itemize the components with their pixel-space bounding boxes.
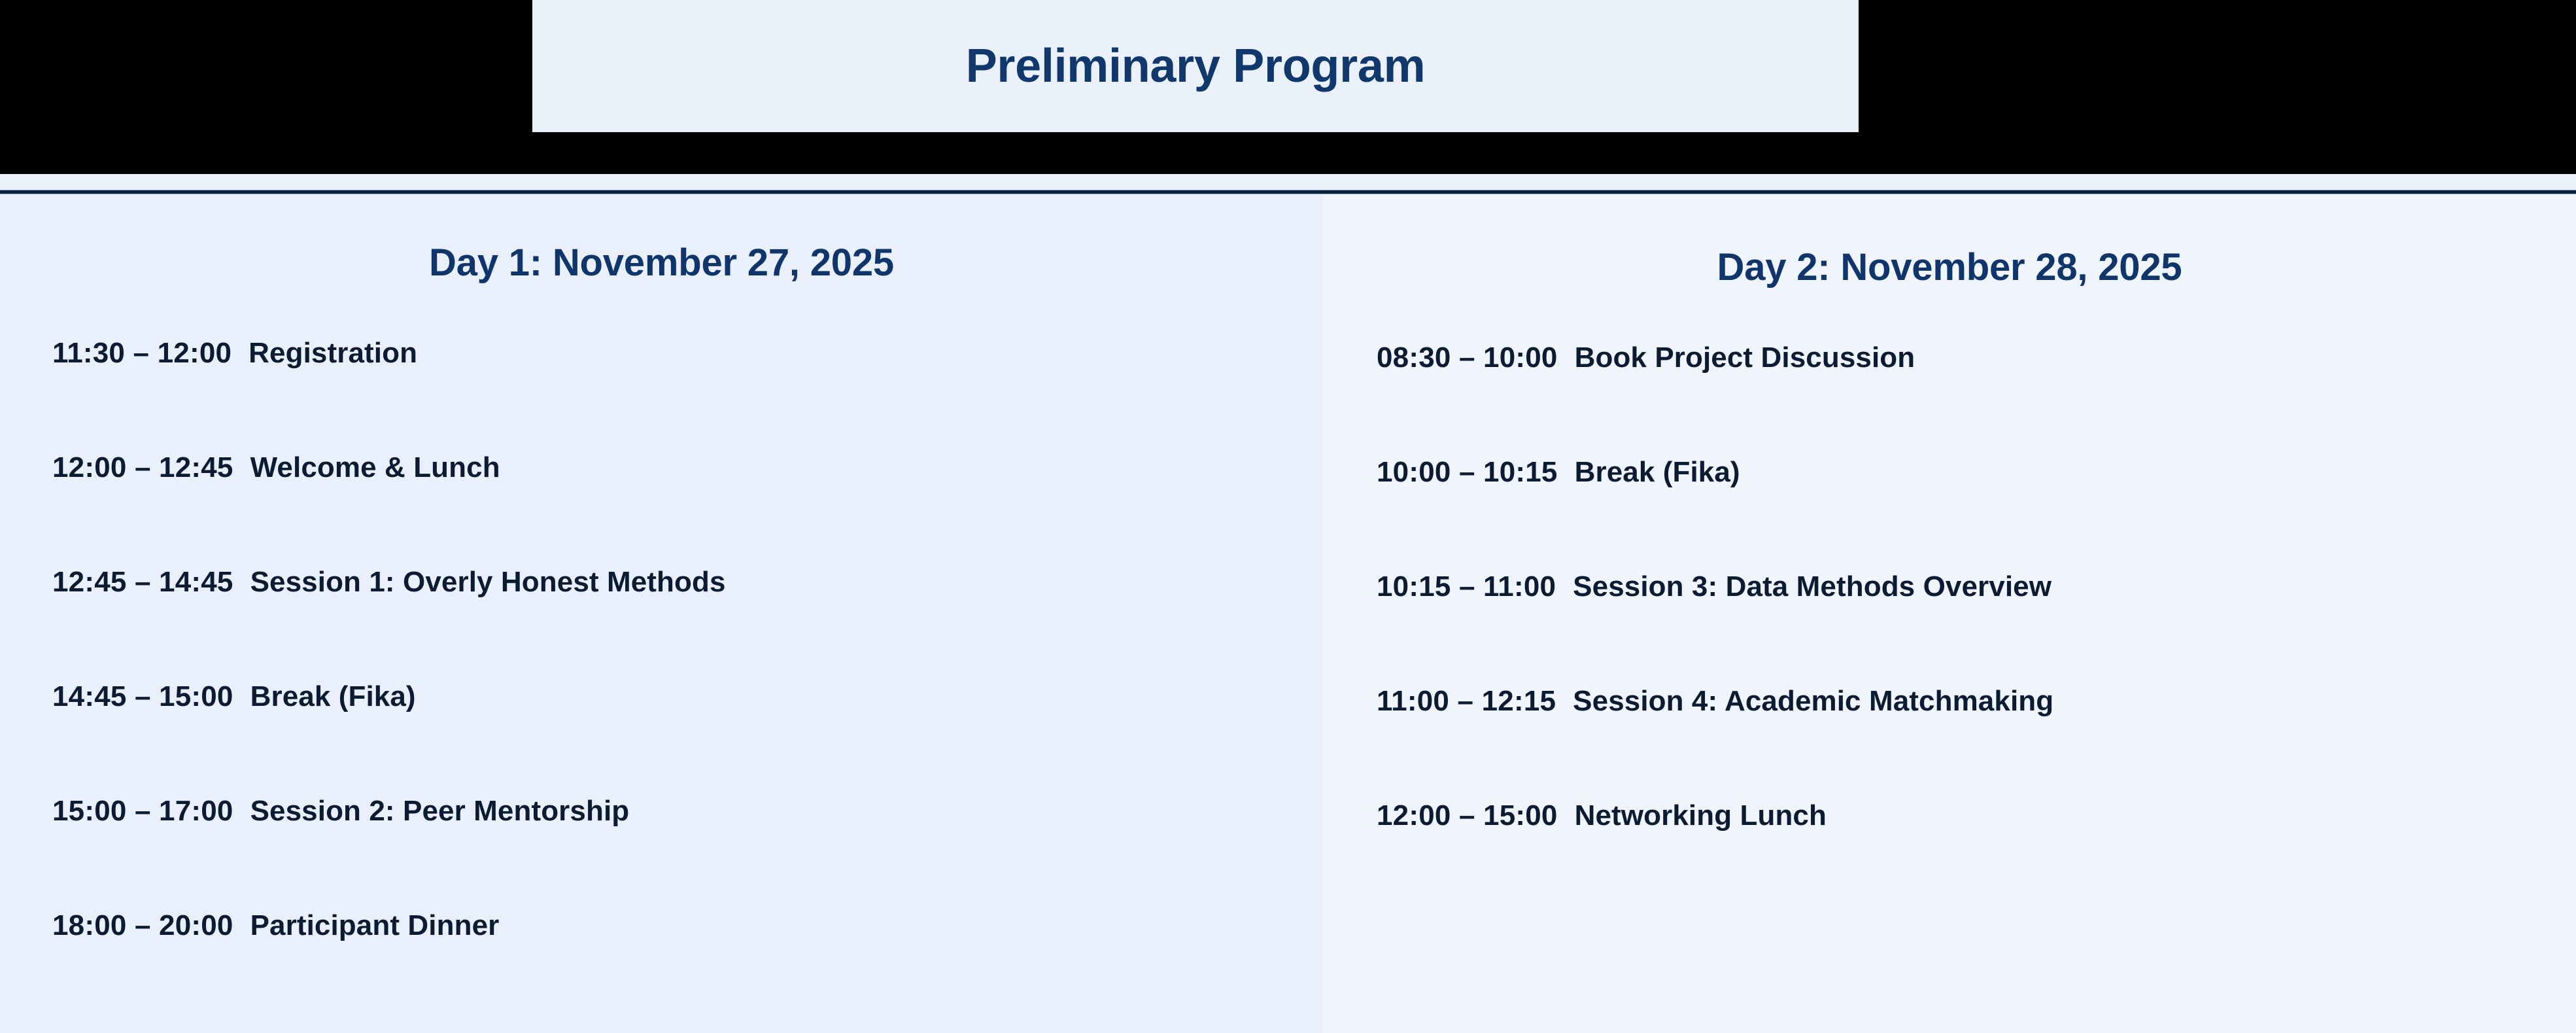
schedule-row: 11:00 – 12:15 Session 4: Academic Matchm…: [1377, 685, 2576, 799]
program-title-card: Preliminary Program: [532, 0, 1859, 132]
slot-title: Session 3: Data Methods Overview: [1573, 570, 2052, 603]
slot-title: Session 2: Peer Mentorship: [250, 795, 630, 828]
header-divider-rule: [0, 190, 2576, 194]
schedule-row: 08:30 – 10:00 Book Project Discussion: [1377, 341, 2576, 456]
slot-time: 12:00 – 15:00: [1377, 799, 1558, 832]
day-column-2: Day 2: November 28, 2025 08:30 – 10:00 B…: [1323, 194, 2576, 1033]
slot-time: 11:00 – 12:15: [1377, 685, 1556, 718]
slot-title: Registration: [249, 337, 417, 370]
slot-title: Session 4: Academic Matchmaking: [1573, 685, 2053, 718]
schedule-row: 14:45 – 15:00 Break (Fika): [52, 680, 1323, 795]
slot-time: 14:45 – 15:00: [52, 680, 233, 713]
slot-time: 08:30 – 10:00: [1377, 341, 1558, 374]
schedule-row: 12:00 – 15:00 Networking Lunch: [1377, 799, 2576, 914]
top-black-strip: Preliminary Program: [0, 0, 2576, 174]
day-1-schedule: 11:30 – 12:00 Registration 12:00 – 12:45…: [0, 337, 1323, 1024]
slot-time: 12:45 – 14:45: [52, 566, 233, 599]
schedule-row: 18:00 – 20:00 Participant Dinner: [52, 909, 1323, 1024]
slot-time: 10:15 – 11:00: [1377, 570, 1556, 603]
schedule-row: 10:15 – 11:00 Session 3: Data Methods Ov…: [1377, 570, 2576, 685]
day-columns: Day 1: November 27, 2025 11:30 – 12:00 R…: [0, 194, 2576, 1033]
slot-title: Networking Lunch: [1575, 799, 1827, 832]
schedule-row: 11:30 – 12:00 Registration: [52, 337, 1323, 451]
slot-time: 15:00 – 17:00: [52, 795, 233, 828]
day-2-heading: Day 2: November 28, 2025: [1323, 245, 2576, 289]
slot-time: 12:00 – 12:45: [52, 451, 233, 484]
schedule-row: 10:00 – 10:15 Break (Fika): [1377, 456, 2576, 570]
slot-title: Participant Dinner: [250, 909, 500, 942]
schedule-row: 15:00 – 17:00 Session 2: Peer Mentorship: [52, 795, 1323, 909]
page-title: Preliminary Program: [966, 43, 1426, 90]
slot-title: Break (Fika): [1575, 456, 1740, 489]
slot-time: 11:30 – 12:00: [52, 337, 232, 370]
slot-time: 10:00 – 10:15: [1377, 456, 1558, 489]
program-board: Day 1: November 27, 2025 11:30 – 12:00 R…: [0, 174, 2576, 1033]
slot-title: Session 1: Overly Honest Methods: [250, 566, 726, 599]
day-column-1: Day 1: November 27, 2025 11:30 – 12:00 R…: [0, 194, 1323, 1033]
day-1-heading: Day 1: November 27, 2025: [0, 241, 1323, 285]
day-2-schedule: 08:30 – 10:00 Book Project Discussion 10…: [1323, 341, 2576, 914]
schedule-row: 12:00 – 12:45 Welcome & Lunch: [52, 451, 1323, 566]
slot-time: 18:00 – 20:00: [52, 909, 233, 942]
slot-title: Book Project Discussion: [1575, 341, 1915, 374]
schedule-row: 12:45 – 14:45 Session 1: Overly Honest M…: [52, 566, 1323, 680]
slot-title: Welcome & Lunch: [250, 451, 500, 484]
slot-title: Break (Fika): [250, 680, 416, 713]
